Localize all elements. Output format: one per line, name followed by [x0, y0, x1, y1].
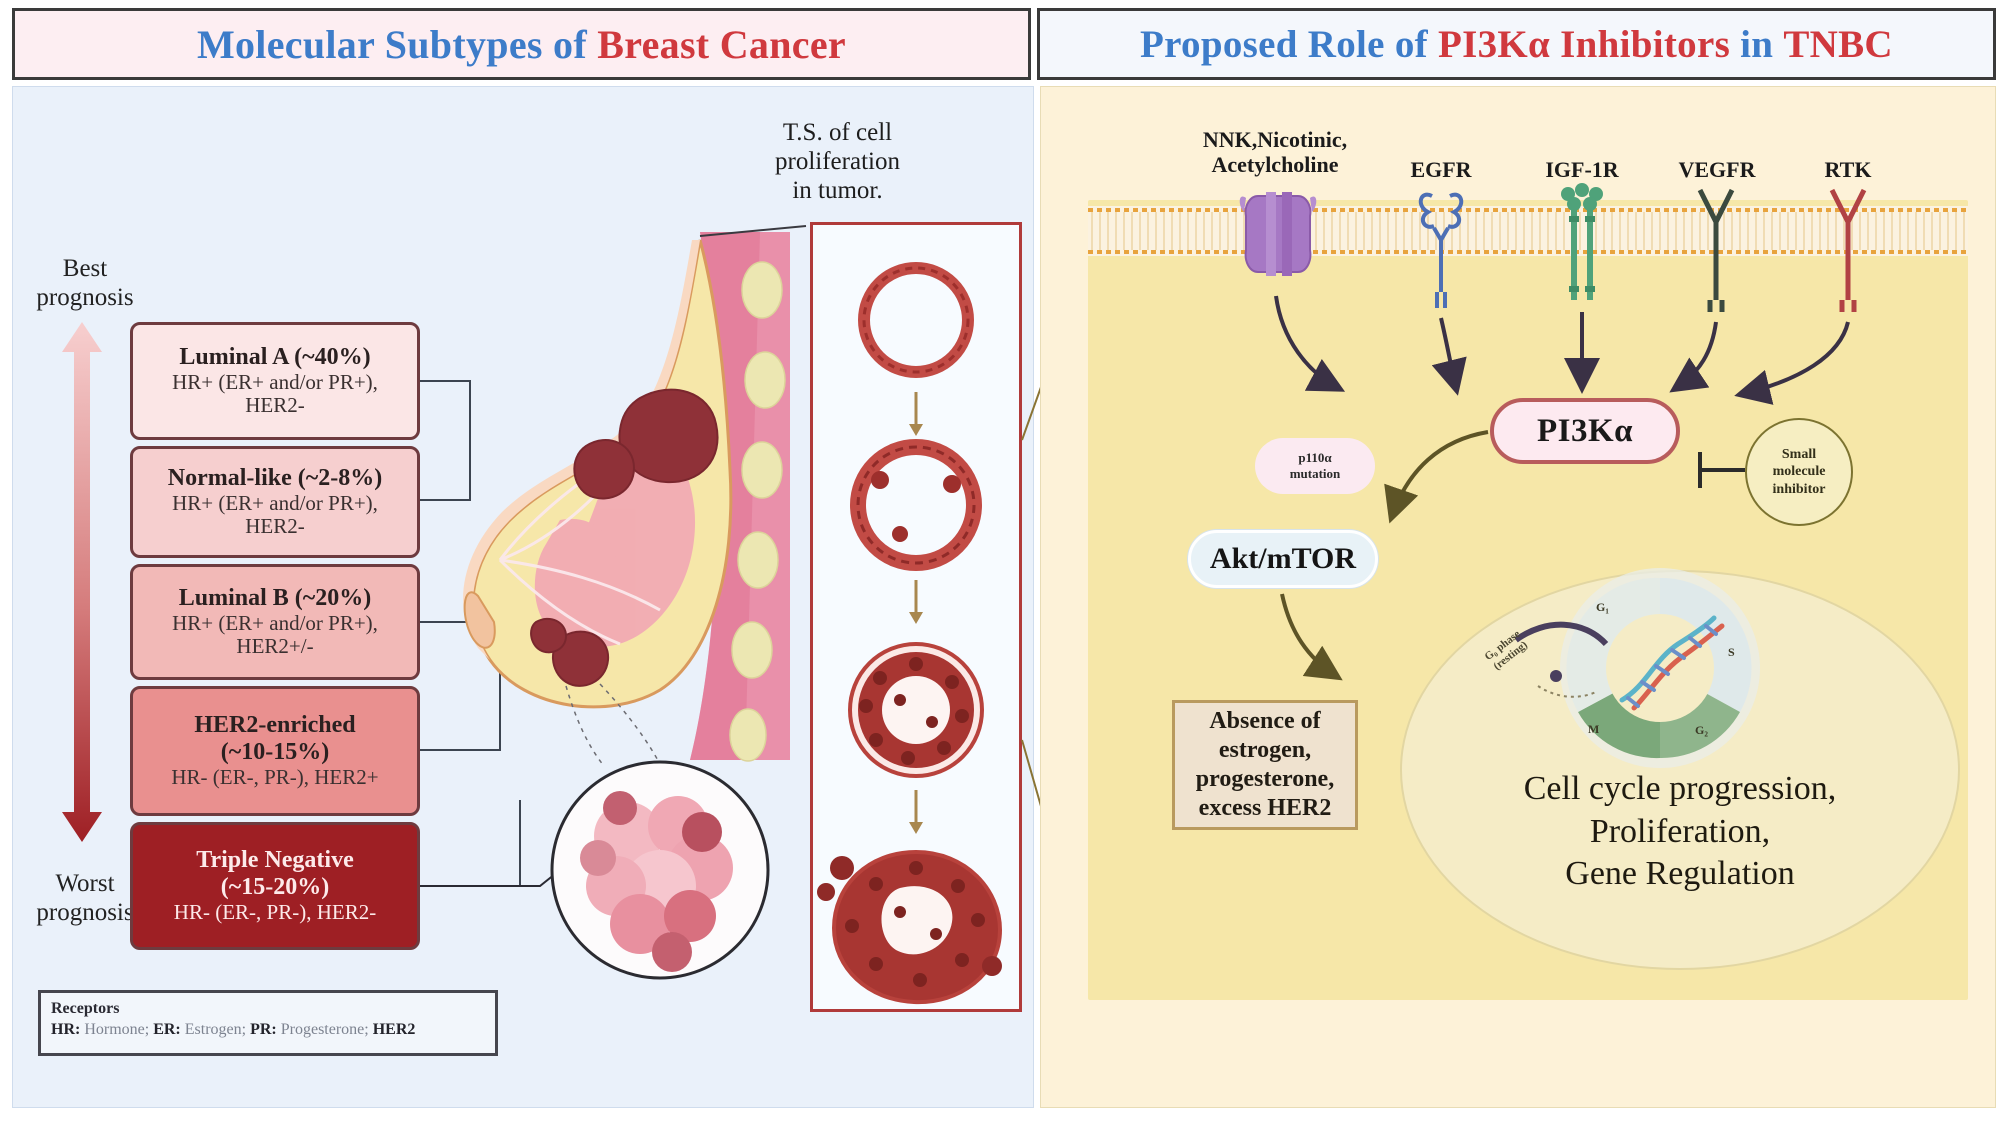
cell-cycle-phase-g1: G₁: [1596, 600, 1609, 615]
cell-cycle-phase-s: S: [1728, 645, 1735, 660]
subtype-name: Luminal B (~20%): [141, 585, 409, 612]
receptor-label-igf1r: IGF-1R: [1517, 158, 1647, 183]
cell-cycle-phase-m: M: [1588, 722, 1599, 737]
left-title-part2: Breast Cancer: [597, 21, 846, 68]
right-title-part1: Proposed Role of: [1140, 22, 1428, 67]
best-prognosis-label: Best prognosis: [10, 255, 160, 313]
subtype-box[interactable]: Normal-like (~2-8%)HR+ (ER+ and/or PR+),…: [130, 446, 420, 558]
receptor-label-egfr: EGFR: [1386, 158, 1496, 183]
receptor-label-nnk: NNK,Nicotinic, Acetylcholine: [1155, 128, 1395, 177]
right-title-part2: PI3Kα Inhibitors: [1438, 22, 1730, 67]
receptor-label-rtk: RTK: [1793, 158, 1903, 183]
subtype-box[interactable]: Luminal A (~40%)HR+ (ER+ and/or PR+),HER…: [130, 322, 420, 440]
absence-of-receptors-box: Absence of estrogen, progesterone, exces…: [1172, 700, 1358, 830]
subtype-percentage: (~15-20%): [141, 874, 409, 901]
tumor-cross-section-frame: [810, 222, 1022, 1012]
subtype-her2-status: HER2-: [141, 515, 409, 539]
subtype-name: Triple Negative: [141, 847, 409, 874]
legend-title: Receptors: [51, 1000, 485, 1018]
receptor-abbreviations-legend: Receptors HR: Hormone; ER: Estrogen; PR:…: [38, 990, 498, 1056]
left-title-part1: Molecular Subtypes of: [197, 21, 587, 68]
subtype-her2-status: HER2+/-: [141, 635, 409, 659]
right-title-part4: TNBC: [1783, 22, 1893, 67]
subtype-percentage: (~10-15%): [141, 739, 409, 766]
title-bar: Molecular Subtypes of Breast Cancer Prop…: [12, 8, 1996, 80]
subtype-box[interactable]: Triple Negative(~15-20%)HR- (ER-, PR-), …: [130, 822, 420, 950]
cell-cycle-phase-g2: G₂: [1695, 723, 1708, 738]
subtype-name: HER2-enriched: [141, 712, 409, 739]
subtype-receptor-status: HR+ (ER+ and/or PR+),: [141, 492, 409, 516]
p110-alpha-mutation-node[interactable]: p110α mutation: [1255, 438, 1375, 494]
subtype-receptor-status: HR- (ER-, PR-), HER2+: [141, 766, 409, 790]
akt-mtor-node[interactable]: Akt/mTOR: [1188, 530, 1378, 588]
right-panel-title: Proposed Role of PI3Kα Inhibitors in TNB…: [1037, 8, 1996, 80]
ts-caption: T.S. of cell proliferation in tumor.: [750, 118, 925, 205]
prognosis-gradient-arrow: [60, 322, 104, 842]
subtype-box[interactable]: HER2-enriched(~10-15%)HR- (ER-, PR-), HE…: [130, 686, 420, 816]
subtype-receptor-status: HR+ (ER+ and/or PR+),: [141, 612, 409, 636]
legend-line: HR: Hormone; ER: Estrogen; PR: Progester…: [51, 1021, 485, 1039]
subtype-name: Luminal A (~40%): [141, 344, 409, 371]
subtype-receptor-status: HR- (ER-, PR-), HER2-: [141, 901, 409, 925]
small-molecule-inhibitor-node[interactable]: Small molecule inhibitor: [1745, 418, 1853, 526]
subtype-name: Normal-like (~2-8%): [141, 465, 409, 492]
subtype-her2-status: HER2-: [141, 394, 409, 418]
right-title-part3: in: [1740, 22, 1773, 67]
subtype-box[interactable]: Luminal B (~20%)HR+ (ER+ and/or PR+),HER…: [130, 564, 420, 680]
receptor-label-vegfr: VEGFR: [1652, 158, 1782, 183]
subtype-receptor-status: HR+ (ER+ and/or PR+),: [141, 371, 409, 395]
pi3k-alpha-node[interactable]: PI3Kα: [1490, 398, 1680, 464]
pathway-outcome-text: Cell cycle progression, Proliferation, G…: [1420, 768, 1940, 896]
left-panel-title: Molecular Subtypes of Breast Cancer: [12, 8, 1031, 80]
